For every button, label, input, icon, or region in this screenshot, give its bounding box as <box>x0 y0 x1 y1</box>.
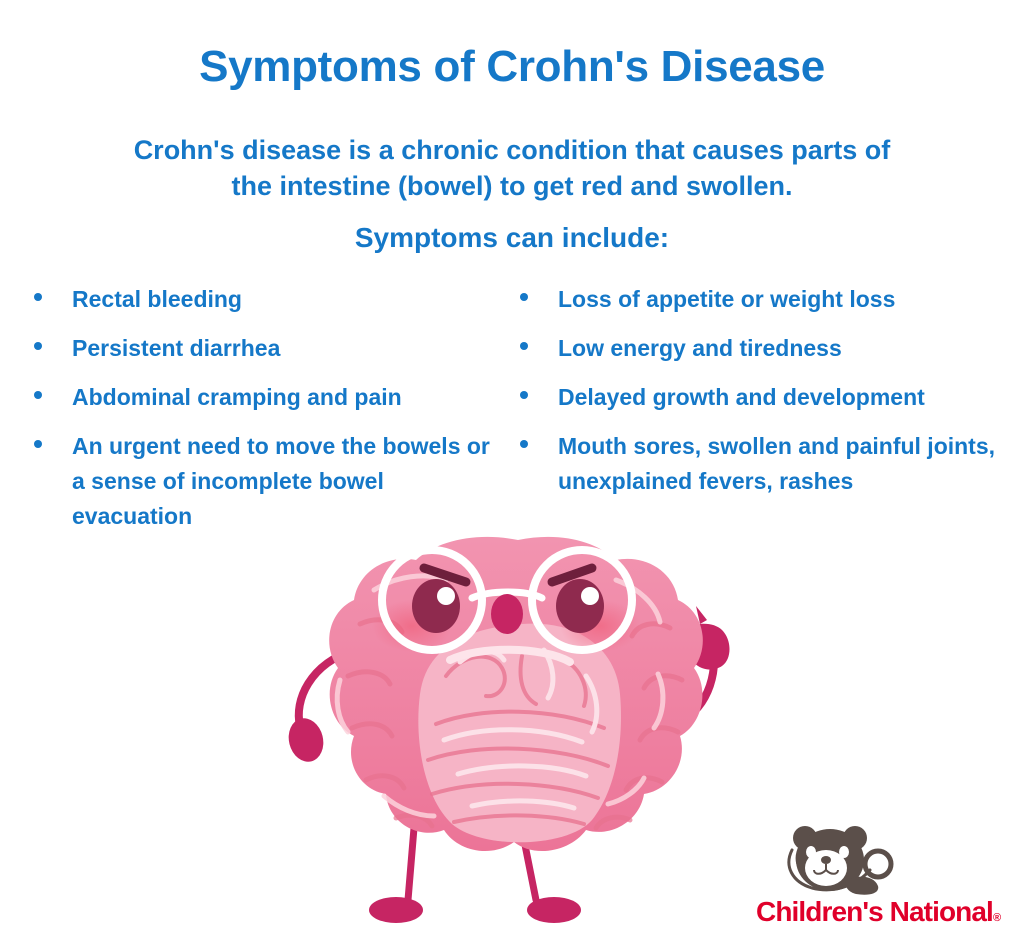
bullet-dot-icon <box>34 342 42 350</box>
list-item: Delayed growth and development <box>512 380 1014 415</box>
intro-paragraph: Crohn's disease is a chronic condition t… <box>112 133 912 204</box>
symptoms-right-column: Loss of appetite or weight loss Low ener… <box>512 282 1024 548</box>
list-item: Abdominal cramping and pain <box>26 380 498 415</box>
list-item-label: Loss of appetite or weight loss <box>558 286 895 312</box>
symptoms-columns: Rectal bleeding Persistent diarrhea Abdo… <box>0 282 1024 548</box>
bullet-dot-icon <box>520 342 528 350</box>
symptoms-right-list: Loss of appetite or weight loss Low ener… <box>512 282 1014 499</box>
list-item-label: Delayed growth and development <box>558 384 925 410</box>
bullet-dot-icon <box>520 293 528 301</box>
list-item: Low energy and tiredness <box>512 331 1014 366</box>
list-item: Rectal bleeding <box>26 282 498 317</box>
bullet-dot-icon <box>34 440 42 448</box>
intestine-character-illustration <box>286 528 746 940</box>
bear-with-stethoscope-icon <box>774 824 902 896</box>
bullet-dot-icon <box>34 293 42 301</box>
list-item-label: Mouth sores, swollen and painful joints,… <box>558 433 995 494</box>
bullet-dot-icon <box>34 391 42 399</box>
symptoms-sub-heading: Symptoms can include: <box>0 222 1024 254</box>
eye-right <box>556 579 604 633</box>
childrens-national-logo: Children's National® <box>756 824 1004 928</box>
symptoms-left-list: Rectal bleeding Persistent diarrhea Abdo… <box>26 282 498 534</box>
list-item-label: Low energy and tiredness <box>558 335 842 361</box>
list-item: An urgent need to move the bowels or a s… <box>26 429 498 534</box>
list-item-label: Rectal bleeding <box>72 286 242 312</box>
list-item: Loss of appetite or weight loss <box>512 282 1014 317</box>
infographic-page: Symptoms of Crohn's Disease Crohn's dise… <box>0 0 1024 940</box>
page-title: Symptoms of Crohn's Disease <box>0 42 1024 92</box>
bullet-dot-icon <box>520 440 528 448</box>
list-item-label: Persistent diarrhea <box>72 335 280 361</box>
logo-wordmark-text: Children's National <box>756 896 993 927</box>
list-item-label: Abdominal cramping and pain <box>72 384 402 410</box>
registered-mark: ® <box>993 912 1000 924</box>
logo-wordmark: Children's National® <box>756 896 1004 928</box>
character-body <box>329 537 703 851</box>
eye-left <box>412 579 460 633</box>
list-item: Persistent diarrhea <box>26 331 498 366</box>
list-item: Mouth sores, swollen and painful joints,… <box>512 429 1014 499</box>
list-item-label: An urgent need to move the bowels or a s… <box>72 433 490 529</box>
bullet-dot-icon <box>520 391 528 399</box>
symptoms-left-column: Rectal bleeding Persistent diarrhea Abdo… <box>0 282 512 548</box>
nose <box>491 594 523 634</box>
